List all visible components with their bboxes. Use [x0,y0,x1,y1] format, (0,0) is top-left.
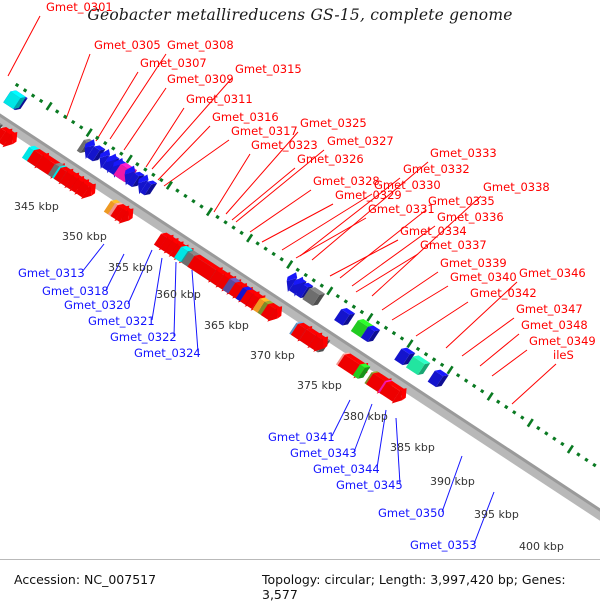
genome-map-viewer: Geobacter metallireducens GS-15, complet… [0,0,600,600]
topology-text: Topology: circular; Length: 3,997,420 bp… [262,572,600,602]
scale-tick-label: 345 kbp [14,200,59,213]
gene-label[interactable]: Gmet_0321 [88,316,155,328]
gene-label[interactable]: Gmet_0344 [313,464,380,476]
gene-label[interactable]: Gmet_0346 [519,268,586,280]
gene-label[interactable]: Gmet_0305 [94,40,161,52]
scale-tick-label: 390 kbp [430,475,475,488]
gene-label[interactable]: Gmet_0342 [470,288,537,300]
status-bar: Accession: NC_007517 Topology: circular;… [0,559,600,600]
gene-label[interactable]: Gmet_0336 [437,212,504,224]
gene-label[interactable]: Gmet_0345 [336,480,403,492]
gene-label[interactable]: Gmet_0339 [440,258,507,270]
gene-feature[interactable] [3,88,26,111]
gene-label[interactable]: Gmet_0322 [110,332,177,344]
scale-tick-label: 375 kbp [297,379,342,392]
gene-label[interactable]: Gmet_0334 [400,226,467,238]
gene-label[interactable]: Gmet_0327 [327,136,394,148]
gene-label[interactable]: Gmet_0315 [235,64,302,76]
gene-label[interactable]: Gmet_0313 [18,268,85,280]
gene-label[interactable]: Gmet_0328 [313,176,380,188]
gene-label[interactable]: Gmet_0340 [450,272,517,284]
gene-label[interactable]: Gmet_0326 [297,154,364,166]
gene-label[interactable]: Gmet_0348 [521,320,588,332]
gene-label[interactable]: Gmet_0338 [483,182,550,194]
scale-tick-label: 395 kbp [474,508,519,521]
gene-label[interactable]: Gmet_0333 [430,148,497,160]
gene-label[interactable]: Gmet_0318 [42,286,109,298]
gene-label[interactable]: Gmet_0350 [378,508,445,520]
gene-label[interactable]: Gmet_0301 [46,2,113,14]
gene-label[interactable]: Gmet_0309 [167,74,234,86]
gene-feature[interactable] [428,367,449,389]
accession-text: Accession: NC_007517 [14,572,156,587]
gene-label[interactable]: Gmet_0320 [64,300,131,312]
gene-label[interactable]: ileS [553,350,574,362]
scale-tick-label: 400 kbp [519,540,564,553]
scale-tick-label: 385 kbp [390,441,435,454]
gene-label[interactable]: Gmet_0323 [251,140,318,152]
scale-tick-label: 350 kbp [62,230,107,243]
scale-tick-label: 380 kbp [343,410,388,423]
gene-label[interactable]: Gmet_0311 [186,94,253,106]
gene-label[interactable]: Gmet_0337 [420,240,487,252]
gene-label[interactable]: Gmet_0332 [403,164,470,176]
gene-label[interactable]: Gmet_0330 [374,180,441,192]
scale-tick-label: 365 kbp [204,319,249,332]
scale-tick-label: 355 kbp [108,261,153,274]
scale-tick-label: 370 kbp [250,349,295,362]
gene-label[interactable]: Gmet_0324 [134,348,201,360]
gene-label[interactable]: Gmet_0349 [529,336,596,348]
scale-tick-label: 360 kbp [156,288,201,301]
gene-label[interactable]: Gmet_0343 [290,448,357,460]
gene-label[interactable]: Gmet_0331 [368,204,435,216]
gene-label[interactable]: Gmet_0308 [167,40,234,52]
gene-label[interactable]: Gmet_0307 [140,58,207,70]
gene-label[interactable]: Gmet_0317 [231,126,298,138]
gene-label[interactable]: Gmet_0347 [516,304,583,316]
gene-label[interactable]: Gmet_0341 [268,432,335,444]
gene-label[interactable]: Gmet_0316 [212,112,279,124]
gene-label[interactable]: Gmet_0335 [428,196,495,208]
gene-feature[interactable] [334,306,355,328]
gene-label[interactable]: Gmet_0353 [410,540,477,552]
gene-label[interactable]: Gmet_0325 [300,118,367,130]
